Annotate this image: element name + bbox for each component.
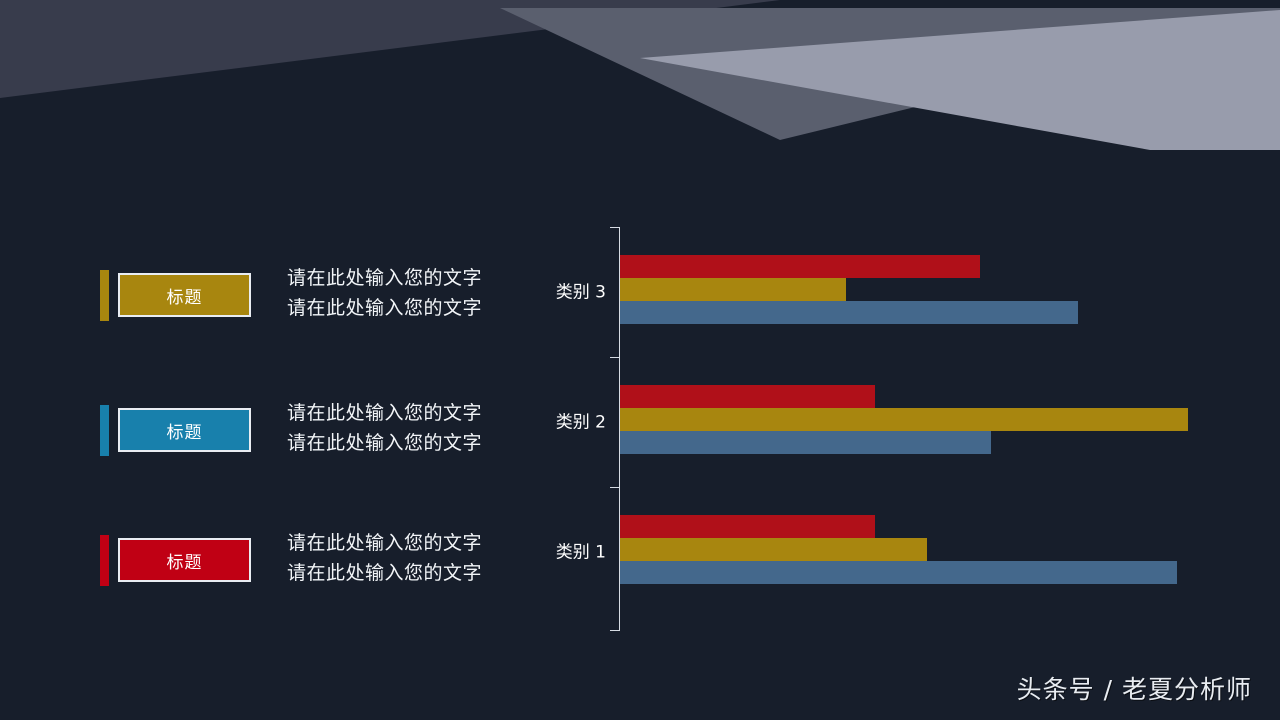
legend-desc-line-2b: 请在此处输入您的文字 xyxy=(287,428,482,458)
chart-bar xyxy=(620,431,991,454)
header-decoration xyxy=(0,0,1280,150)
footer-watermark: 头条号 / 老夏分析师 xyxy=(1017,670,1252,706)
chart-bar xyxy=(620,255,980,278)
chart-bar xyxy=(620,385,875,408)
chart-bar xyxy=(620,278,846,301)
legend-accent-bar-2 xyxy=(100,405,109,456)
legend-accent-bar-1 xyxy=(100,270,109,321)
legend-desc-line-2a: 请在此处输入您的文字 xyxy=(287,398,482,428)
chart-category-label: 类别 3 xyxy=(556,277,606,302)
legend-desc-line-1b: 请在此处输入您的文字 xyxy=(287,293,482,323)
chart-axis-tick xyxy=(610,357,619,358)
chart-category-group: 类别 2 xyxy=(620,385,1188,454)
legend-desc-line-3b: 请在此处输入您的文字 xyxy=(287,558,482,588)
legend-title-box-3[interactable]: 标题 xyxy=(118,538,251,582)
chart-bar xyxy=(620,301,1078,324)
chart-bar xyxy=(620,408,1188,431)
chart-bar xyxy=(620,515,875,538)
legend-title-box-2[interactable]: 标题 xyxy=(118,408,251,452)
chart-category-label: 类别 1 xyxy=(556,537,606,562)
bar-chart: 类别 1类别 2类别 3 xyxy=(540,210,1240,640)
chart-bar xyxy=(620,538,927,561)
deco-left-slate-shape xyxy=(0,0,780,98)
chart-axis-tick xyxy=(610,487,619,488)
legend-desc-line-3a: 请在此处输入您的文字 xyxy=(287,528,482,558)
legend-accent-bar-3 xyxy=(100,535,109,586)
legend-description-2: 请在此处输入您的文字 请在此处输入您的文字 xyxy=(287,398,482,458)
deco-mid-gray-shape xyxy=(500,8,1280,140)
legend-title-label-3: 标题 xyxy=(167,548,203,573)
legend-title-label-1: 标题 xyxy=(167,283,203,308)
legend-title-label-2: 标题 xyxy=(167,418,203,443)
chart-category-group: 类别 3 xyxy=(620,255,1078,324)
legend-title-box-1[interactable]: 标题 xyxy=(118,273,251,317)
chart-category-group: 类别 1 xyxy=(620,515,1177,584)
legend-description-3: 请在此处输入您的文字 请在此处输入您的文字 xyxy=(287,528,482,588)
chart-axis-tick xyxy=(610,630,619,631)
legend-desc-line-1a: 请在此处输入您的文字 xyxy=(287,263,482,293)
deco-light-gray-shape xyxy=(640,10,1280,150)
slide-canvas: 标题 请在此处输入您的文字 请在此处输入您的文字 标题 请在此处输入您的文字 请… xyxy=(0,0,1280,720)
chart-bar xyxy=(620,561,1177,584)
chart-category-label: 类别 2 xyxy=(556,407,606,432)
deco-slate-polygon xyxy=(0,0,1280,150)
chart-axis-tick xyxy=(610,227,619,228)
legend-description-1: 请在此处输入您的文字 请在此处输入您的文字 xyxy=(287,263,482,323)
